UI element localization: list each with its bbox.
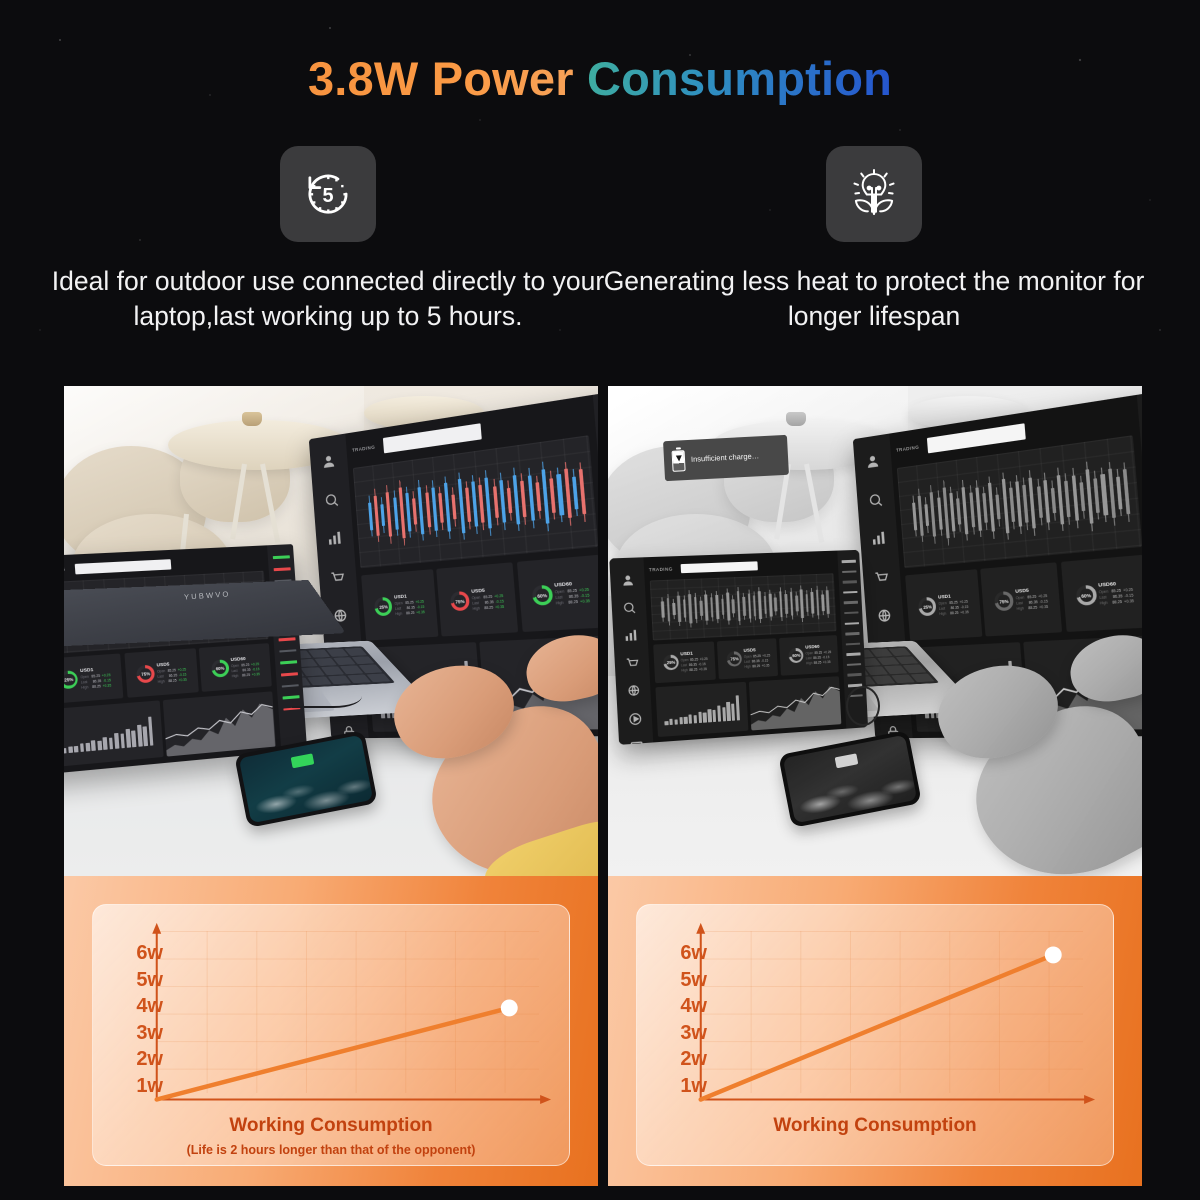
- coffee-cup: [786, 412, 806, 426]
- bar: [91, 740, 96, 750]
- gauge-card-usd60[interactable]: 60%USD60Open85.25+0.25Last86.35-0.15High…: [779, 635, 839, 675]
- coffee-cup: [242, 412, 262, 426]
- candlestick-chart: [650, 573, 837, 641]
- gauge-card-usd1[interactable]: 25%USD1Open85.25+0.25Last86.35-0.15High8…: [64, 654, 124, 704]
- gauge-ring: 25%: [64, 670, 79, 689]
- tablet-stand-ring: [846, 686, 880, 726]
- dashboard-title: TRADING: [896, 444, 920, 452]
- feature-text-battery-life: Ideal for outdoor use connected directly…: [48, 264, 608, 334]
- dashboard-search-input[interactable]: [74, 559, 171, 574]
- portable-monitor-screen: TRADING25%USD1Open85.25+0.25Last86.35-0.…: [64, 544, 307, 778]
- bar-chart-icon[interactable]: [870, 530, 887, 547]
- dashboard-search-input[interactable]: [383, 423, 481, 452]
- bar: [679, 717, 683, 724]
- chart-card: 6w 5w 4w 3w 2w 1w: [92, 904, 570, 1166]
- bar: [148, 716, 154, 745]
- gauge-card-usd60[interactable]: 60%USD60Open85.25+0.25Last86.35-0.15High…: [1061, 555, 1142, 631]
- bar: [717, 706, 721, 722]
- ticker-row: [847, 663, 861, 666]
- gauge-card-usd5[interactable]: 75%USD5Open85.25+0.25Last86.35-0.15High8…: [436, 563, 518, 636]
- dashboard-main: TRADING25%USD1Open85.25+0.25Last86.35-0.…: [643, 551, 847, 743]
- globe-icon[interactable]: [626, 684, 641, 699]
- bar: [131, 730, 136, 747]
- gauge-name: USD5: [156, 660, 185, 667]
- ticker-row: [278, 637, 295, 641]
- bar: [722, 707, 726, 721]
- gauge-card-usd1[interactable]: 25%USD1Open85.25+0.25Last86.35-0.15High8…: [906, 570, 982, 641]
- dashboard-title: TRADING: [649, 566, 673, 572]
- bar: [137, 724, 143, 746]
- gauge-name: USD1: [680, 650, 705, 656]
- bar: [114, 733, 119, 748]
- gauge-ring: 60%: [789, 648, 804, 664]
- ticker-row: [846, 642, 860, 645]
- chart-panel-competitor: 6w 5w 4w 3w 2w 1w: [608, 876, 1142, 1186]
- gauge-name: USD60: [230, 655, 258, 662]
- gauge-name: USD5: [1015, 586, 1047, 594]
- cart-icon[interactable]: [873, 568, 890, 585]
- gauge-name: USD1: [394, 592, 424, 599]
- gauge-ring: 75%: [136, 665, 155, 684]
- bar: [698, 712, 702, 723]
- bar: [708, 709, 712, 722]
- bar: [674, 719, 678, 724]
- trading-dashboard-tablet: TRADING25%USD1Open85.25+0.25Last86.35-0.…: [609, 550, 868, 745]
- page-title-part-power: 3.8W Power: [308, 52, 587, 105]
- ticker-row: [845, 632, 859, 635]
- search-icon[interactable]: [867, 491, 883, 509]
- bar: [103, 737, 108, 750]
- cart-icon[interactable]: [329, 568, 346, 585]
- chart-line: [157, 1008, 510, 1100]
- bar: [693, 715, 697, 723]
- ticker-row: [280, 661, 297, 665]
- tablet-device: TRADING25%USD1Open85.25+0.25Last86.35-0.…: [609, 550, 868, 745]
- gauge-name: USD60: [554, 580, 588, 588]
- page-background: 3.8W Power Consumption 5 Ideal for outdo…: [0, 0, 1200, 1200]
- gauge-card-usd60[interactable]: 60%USD60Open85.25+0.25Last86.35-0.15High…: [199, 644, 271, 692]
- gauge-card-usd60[interactable]: 60%USD60Open85.25+0.25Last86.35-0.15High…: [517, 555, 598, 631]
- user-icon[interactable]: [320, 453, 336, 471]
- bar: [713, 710, 717, 722]
- area-chart: [748, 676, 841, 730]
- chart-subtitle: (Life is 2 hours longer than that of the…: [93, 1143, 569, 1157]
- clock-icon-number: 5: [322, 185, 333, 207]
- ticker-row: [843, 591, 857, 594]
- gauge-cards: 25%USD1Open85.25+0.25Last86.35-0.15High8…: [653, 635, 839, 683]
- dashboard-title: TRADING: [352, 444, 376, 452]
- gauge-ring: 75%: [450, 591, 470, 611]
- user-icon[interactable]: [620, 573, 635, 588]
- chart-x-axis-title: Working Consumption: [93, 1115, 569, 1137]
- gauge-name: USD60: [805, 644, 829, 650]
- gauge-name: USD5: [743, 647, 767, 653]
- gauge-cards: 25%USD1Open85.25+0.25Last86.35-0.15High8…: [362, 555, 598, 640]
- clock-5-hours-icon: 5: [280, 146, 376, 242]
- user-icon[interactable]: [864, 453, 880, 471]
- dashboard-search-input[interactable]: [927, 423, 1025, 452]
- gauge-ring: 25%: [663, 655, 679, 671]
- bar: [736, 696, 741, 721]
- keyboard-key[interactable]: [301, 667, 324, 676]
- gauge-ring: 75%: [994, 591, 1014, 611]
- ticker-row: [846, 653, 860, 656]
- gauge-ring: 25%: [374, 597, 393, 616]
- bar: [126, 729, 131, 747]
- insufficient-charge-text: Insufficient charge…: [691, 452, 760, 465]
- trading-dashboard-monitor: TRADING25%USD1Open85.25+0.25Last86.35-0.…: [64, 544, 307, 778]
- gauge-name: USD1: [938, 592, 968, 599]
- gauge-ring: 75%: [727, 651, 743, 667]
- gauge-card-usd5[interactable]: 75%USD5Open85.25+0.25Last86.35-0.15High8…: [717, 638, 778, 679]
- portable-monitor: TRADING25%USD1Open85.25+0.25Last86.35-0.…: [64, 544, 300, 750]
- ticker-row: [842, 570, 856, 573]
- bar-chart: [655, 682, 748, 737]
- gauge-card-usd5[interactable]: 75%USD5Open85.25+0.25Last86.35-0.15High8…: [124, 649, 199, 698]
- panel-competitor: TRADING25%USD1Open85.25+0.25Last86.35-0.…: [608, 386, 1142, 1186]
- bar: [143, 726, 148, 746]
- dashboard-search-input[interactable]: [680, 561, 758, 573]
- bar: [74, 746, 78, 752]
- gauge-card-usd1[interactable]: 25%USD1Open85.25+0.25Last86.35-0.15High8…: [362, 570, 438, 641]
- bar: [689, 715, 693, 724]
- gauge-name: USD1: [80, 666, 110, 673]
- bar: [120, 734, 125, 748]
- ticker-row: [842, 560, 856, 563]
- globe-icon[interactable]: [876, 607, 893, 624]
- bar: [86, 743, 91, 751]
- dashboard-title: TRADING: [64, 567, 66, 574]
- ticker-row: [847, 673, 861, 676]
- cart-icon[interactable]: [624, 656, 639, 671]
- chart-card: 6w 5w 4w 3w 2w 1w: [636, 904, 1114, 1166]
- gauge-name: USD60: [1098, 580, 1132, 588]
- chart-panel-this-product: 6w 5w 4w 3w 2w 1w: [64, 876, 598, 1186]
- chart-endpoint-dot: [1045, 946, 1062, 963]
- ticker-row: [279, 649, 296, 653]
- bar: [669, 719, 673, 725]
- bar: [64, 748, 67, 753]
- feature-block-battery-life: 5 Ideal for outdoor use connected direct…: [48, 146, 608, 334]
- area-chart: [163, 691, 276, 757]
- bar: [684, 717, 688, 724]
- feature-text-heat: Generating less heat to protect the moni…: [594, 264, 1154, 334]
- gauge-name: USD5: [471, 586, 503, 594]
- search-icon[interactable]: [323, 491, 339, 509]
- chart-x-axis-title: Working Consumption: [637, 1115, 1113, 1137]
- ticker-row: [273, 567, 290, 570]
- bar: [731, 704, 735, 721]
- page-title-part-consumption: Consumption: [587, 52, 892, 105]
- panel-this-product: TRADING25%USD1Open85.25+0.25Last86.35-0.…: [64, 386, 598, 1186]
- eco-lightbulb-leaf-icon: [826, 146, 922, 242]
- ticker-row: [280, 672, 297, 676]
- gauge-ring: 25%: [918, 597, 937, 616]
- gauge-ring: 60%: [531, 585, 553, 605]
- gauge-ring: 60%: [1075, 585, 1097, 605]
- photo-portable-monitor-color: TRADING25%USD1Open85.25+0.25Last86.35-0.…: [64, 386, 598, 876]
- ticker-row: [272, 556, 289, 559]
- low-battery-icon: [672, 450, 686, 472]
- dashboard-main: TRADING25%USD1Open85.25+0.25Last86.35-0.…: [64, 545, 282, 774]
- bar-chart-icon[interactable]: [623, 628, 638, 643]
- play-icon[interactable]: [627, 711, 642, 726]
- ticker-row: [844, 611, 858, 614]
- insufficient-charge-toast: Insufficient charge…: [663, 435, 789, 481]
- chart-line: [701, 955, 1054, 1100]
- ticker-row: [843, 580, 857, 583]
- page-title: 3.8W Power Consumption: [0, 50, 1200, 109]
- gauge-card-usd5[interactable]: 75%USD5Open85.25+0.25Last86.35-0.15High8…: [980, 563, 1062, 636]
- bar: [68, 746, 73, 753]
- bar: [703, 713, 707, 723]
- usb-c-cable: [292, 678, 362, 708]
- bar: [80, 743, 85, 752]
- bar: [665, 721, 669, 726]
- gauge-cards: 25%USD1Open85.25+0.25Last86.35-0.15High8…: [906, 555, 1142, 640]
- photo-tablet-grayscale: TRADING25%USD1Open85.25+0.25Last86.35-0.…: [608, 386, 1142, 876]
- ticker-row: [845, 622, 859, 625]
- search-icon[interactable]: [621, 601, 636, 616]
- bar-chart: [64, 700, 164, 767]
- bar: [726, 702, 730, 721]
- bar: [97, 740, 102, 750]
- bar-chart-icon[interactable]: [326, 530, 343, 547]
- chart-endpoint-dot: [501, 999, 518, 1016]
- gauge-ring: 60%: [211, 659, 230, 678]
- feature-block-heat: Generating less heat to protect the moni…: [594, 146, 1154, 334]
- gauge-card-usd1[interactable]: 25%USD1Open85.25+0.25Last86.35-0.15High8…: [653, 642, 716, 683]
- bar: [109, 737, 114, 749]
- ticker-row: [844, 601, 858, 604]
